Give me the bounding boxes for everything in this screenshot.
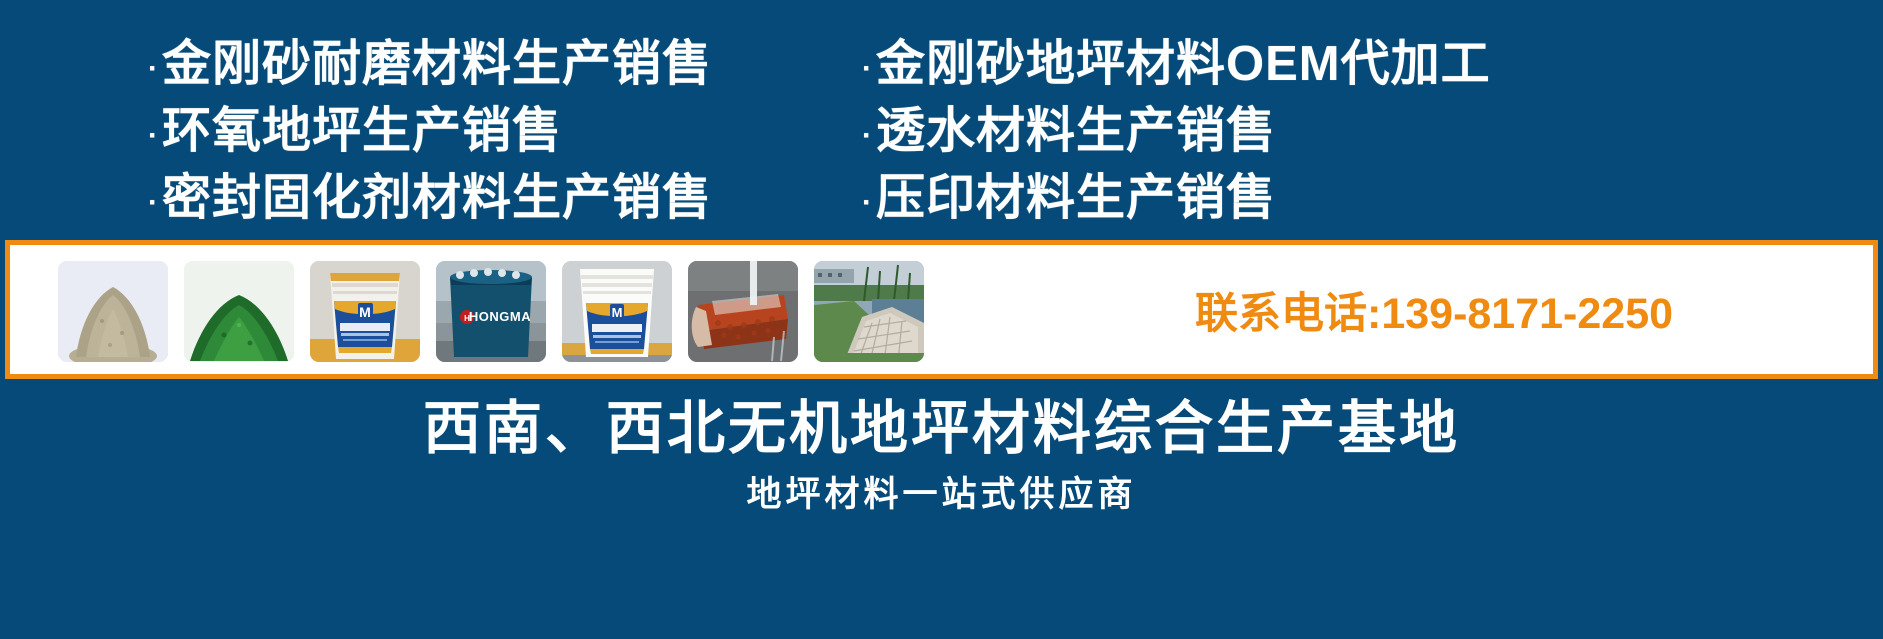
bullet-icon: · <box>862 38 873 99</box>
feature-item: · 透水材料生产销售 <box>862 101 1491 168</box>
hongma-drum-image: H HONGMA <box>436 261 546 362</box>
svg-text:M: M <box>359 304 371 320</box>
feature-label: 压印材料生产销售 <box>876 168 1276 229</box>
product-strip: M <box>5 240 1878 379</box>
bullet-icon: · <box>862 105 873 166</box>
feature-column-left: · 金刚砂耐磨材料生产销售 · 环氧地坪生产销售 · 密封固化剂材料生产销售 <box>148 34 712 235</box>
stamped-walkway-image <box>814 261 924 362</box>
feature-item: · 环氧地坪生产销售 <box>148 101 712 168</box>
product-thumbnail-gallery: M <box>58 259 924 364</box>
feature-item: · 金刚砂地坪材料OEM代加工 <box>862 34 1491 101</box>
bullet-icon: · <box>148 38 159 99</box>
bullet-icon: · <box>862 172 873 233</box>
bullet-icon: · <box>148 105 159 166</box>
feature-lists: · 金刚砂耐磨材料生产销售 · 环氧地坪生产销售 · 密封固化剂材料生产销售 ·… <box>0 34 1883 239</box>
bullet-icon: · <box>148 172 159 233</box>
svg-text:HONGMA: HONGMA <box>469 309 531 324</box>
feature-item: · 密封固化剂材料生产销售 <box>148 168 712 235</box>
feature-label: 透水材料生产销售 <box>876 101 1276 162</box>
feature-item: · 金刚砂耐磨材料生产销售 <box>148 34 712 101</box>
feature-column-right: · 金刚砂地坪材料OEM代加工 · 透水材料生产销售 · 压印材料生产销售 <box>862 34 1491 235</box>
feature-item: · 压印材料生产销售 <box>862 168 1491 235</box>
green-abrasive-powder-image <box>184 261 294 362</box>
contact-phone[interactable]: 联系电话:139-8171-2250 <box>1195 279 1673 341</box>
subtitle-text: 地坪材料一站式供应商 <box>0 471 1883 519</box>
promo-banner: · 金刚砂耐磨材料生产销售 · 环氧地坪生产销售 · 密封固化剂材料生产销售 ·… <box>0 0 1883 639</box>
feature-label: 密封固化剂材料生产销售 <box>162 168 712 229</box>
headline-text: 西南、西北无机地坪材料综合生产基地 <box>0 390 1883 468</box>
svg-text:M: M <box>612 305 623 320</box>
gray-abrasive-powder-image <box>58 261 168 362</box>
sealer-bucket-image: M <box>310 261 420 362</box>
permeable-concrete-sample-image <box>688 261 798 362</box>
feature-label: 金刚砂地坪材料OEM代加工 <box>876 34 1491 95</box>
epoxy-coating-bucket-image: M <box>562 261 672 362</box>
feature-label: 环氧地坪生产销售 <box>162 101 562 162</box>
feature-label: 金刚砂耐磨材料生产销售 <box>162 34 712 95</box>
